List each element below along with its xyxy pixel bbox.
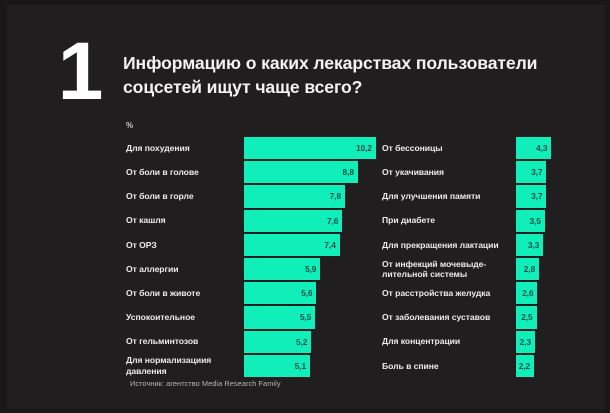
bar: 7,8 (244, 185, 345, 207)
bar: 5,2 (244, 331, 311, 353)
bar-track: 7,4 (244, 233, 376, 257)
infographic-card: 1 Информацию о каких лекарствах пользова… (7, 5, 605, 409)
bar-track: 4,3 (516, 136, 600, 160)
bar-chart-row: От боли в голове8,8 (126, 160, 376, 184)
bar-category-label: От аллергии (126, 257, 244, 281)
bar: 2,3 (516, 331, 535, 353)
unit-label: % (126, 121, 133, 130)
bar-category-label: От гельминтозов (126, 330, 244, 354)
page-title: Информацию о каких лекарствах пользовате… (123, 51, 583, 99)
bar-value-label: 3,5 (529, 216, 540, 226)
bar-chart-row: Для похудения10,2 (126, 136, 376, 160)
bar-category-label: Боль в спине (382, 354, 516, 378)
slide-number: 1 (35, 31, 123, 113)
bar-chart-row: От ОРЗ7,4 (126, 233, 376, 257)
bar-track: 2,8 (516, 257, 600, 281)
bar-value-label: 5,2 (296, 337, 307, 347)
bar-chart-row: От аллергии5,9 (126, 257, 376, 281)
bar-track: 7,6 (244, 209, 376, 233)
bar-chart-row: Для нормализацииядавления5,1 (126, 354, 376, 378)
bar-value-label: 2,5 (521, 312, 532, 322)
bar-track: 8,8 (244, 160, 376, 184)
bar-category-label: Для прекращения лактации (382, 233, 516, 257)
bar-track: 2,6 (516, 281, 600, 305)
bar-value-label: 10,2 (356, 143, 372, 153)
bar-chart-row: Боль в спине2,2 (382, 354, 600, 378)
bar-chart-left-column: Для похудения10,2От боли в голове8,8От б… (126, 136, 376, 378)
bar-value-label: 7,8 (330, 191, 341, 201)
bar: 2,6 (516, 282, 537, 304)
bar: 8,8 (244, 161, 358, 183)
bar-category-label: От кашля (126, 209, 244, 233)
bar: 5,9 (244, 258, 320, 280)
bar: 10,2 (244, 137, 376, 159)
bar-chart-row: Для концентрации2,3 (382, 330, 600, 354)
bar-value-label: 5,1 (295, 361, 306, 371)
bar-category-label: От расстройства желудка (382, 281, 516, 305)
bar-value-label: 3,3 (528, 240, 539, 250)
bar-track: 3,3 (516, 233, 600, 257)
bar-category-label: Для улучшения памяти (382, 184, 516, 208)
bar-chart-row: От заболевания суставов2,5 (382, 305, 600, 329)
bar-track: 7,8 (244, 184, 376, 208)
bar-chart-row: От гельминтозов5,2 (126, 330, 376, 354)
bar-track: 2,3 (516, 330, 600, 354)
bar-chart-row: От укачивания3,7 (382, 160, 600, 184)
bar: 2,2 (516, 355, 534, 377)
bar-chart-row: От боли в животе5,6 (126, 281, 376, 305)
bar: 3,7 (516, 185, 546, 207)
bar-chart-row: От расстройства желудка2,6 (382, 281, 600, 305)
bar-category-label: Для концентрации (382, 330, 516, 354)
bar-track: 3,7 (516, 184, 600, 208)
bar-value-label: 7,4 (324, 240, 335, 250)
bar-track: 5,6 (244, 281, 376, 305)
source-note: Источник: агентство Media Research Famil… (130, 379, 281, 388)
bar-chart-row: От кашля7,6 (126, 209, 376, 233)
card-header: 1 Информацию о каких лекарствах пользова… (7, 5, 605, 115)
bar-category-label: Для похудения (126, 136, 244, 160)
bar-track: 2,5 (516, 305, 600, 329)
bar-category-label: Для нормализацииядавления (126, 354, 244, 378)
bar-value-label: 8,8 (343, 167, 354, 177)
bar-value-label: 2,6 (522, 288, 533, 298)
bar-chart-row: Для прекращения лактации3,3 (382, 233, 600, 257)
bar-track: 5,9 (244, 257, 376, 281)
bar-category-label: От заболевания суставов (382, 305, 516, 329)
bar: 3,5 (516, 210, 545, 232)
bar-chart-row: От инфекций мочевыде-лительной системы2,… (382, 257, 600, 281)
bar: 4,3 (516, 137, 551, 159)
bar-track: 5,1 (244, 354, 376, 378)
bar-track: 10,2 (244, 136, 376, 160)
bar-value-label: 4,3 (536, 143, 547, 153)
bar: 2,5 (516, 306, 537, 328)
bar-value-label: 3,7 (531, 191, 542, 201)
bar-category-label: От боли в голове (126, 160, 244, 184)
bar-track: 5,5 (244, 305, 376, 329)
bar-value-label: 2,8 (524, 264, 535, 274)
bar: 5,5 (244, 306, 315, 328)
bar-value-label: 5,5 (300, 312, 311, 322)
bar: 7,4 (244, 234, 340, 256)
bar-chart-row: От бессоницы4,3 (382, 136, 600, 160)
bar-chart-row: От боли в горле7,8 (126, 184, 376, 208)
bar-chart-row: Для улучшения памяти3,7 (382, 184, 600, 208)
bar-track: 5,2 (244, 330, 376, 354)
bar: 2,8 (516, 258, 539, 280)
bar-value-label: 5,9 (305, 264, 316, 274)
bar-value-label: 7,6 (327, 216, 338, 226)
bar-chart-right-column: От бессоницы4,3От укачивания3,7Для улучш… (382, 136, 600, 378)
bar: 7,6 (244, 210, 342, 232)
bar: 3,7 (516, 161, 546, 183)
bar-category-label: От боли в горле (126, 184, 244, 208)
bar-category-label: От ОРЗ (126, 233, 244, 257)
bar-track: 3,5 (516, 209, 600, 233)
bar-value-label: 2,3 (520, 337, 531, 347)
bar-category-label: От бессоницы (382, 136, 516, 160)
bar: 5,1 (244, 355, 310, 377)
bar-value-label: 5,6 (301, 288, 312, 298)
bar-value-label: 3,7 (531, 167, 542, 177)
bar: 3,3 (516, 234, 543, 256)
bar-chart-row: При диабете3,5 (382, 209, 600, 233)
bar-category-label: При диабете (382, 209, 516, 233)
bar-track: 3,7 (516, 160, 600, 184)
bar-value-label: 2,2 (519, 361, 530, 371)
bar-category-label: От боли в животе (126, 281, 244, 305)
bar-category-label: От укачивания (382, 160, 516, 184)
bar: 5,6 (244, 282, 316, 304)
bar-category-label: От инфекций мочевыде-лительной системы (382, 257, 516, 281)
bar-track: 2,2 (516, 354, 600, 378)
bar-chart-row: Успокоительное5,5 (126, 305, 376, 329)
bar-category-label: Успокоительное (126, 305, 244, 329)
